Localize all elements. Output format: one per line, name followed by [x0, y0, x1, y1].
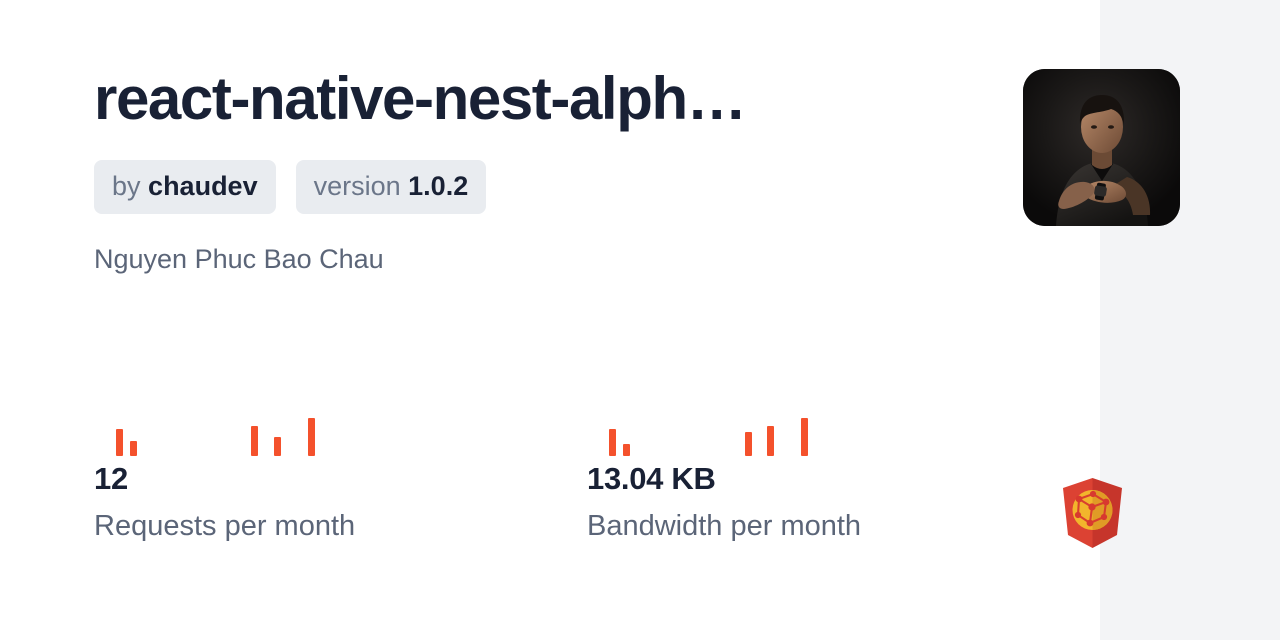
author-badge-handle: chaudev	[148, 171, 258, 201]
badge-row: by chaudev version 1.0.2	[94, 160, 994, 214]
page-title: react-native-nest-alph…	[94, 62, 994, 136]
author-badge-prefix: by	[112, 171, 141, 201]
sparkline-icon-bandwidth	[587, 396, 807, 456]
author-badge[interactable]: by chaudev	[94, 160, 276, 214]
version-badge-value: 1.0.2	[408, 171, 468, 201]
stat-block-requests: 12 Requests per month	[94, 396, 587, 545]
stat-block-bandwidth: 13.04 KB Bandwidth per month	[587, 396, 1080, 545]
stat-value-bandwidth: 13.04 KB	[587, 459, 1080, 499]
jsdelivr-logo	[1061, 477, 1124, 549]
version-badge-prefix: version	[314, 171, 401, 201]
avatar	[1023, 69, 1180, 226]
stat-label-requests: Requests per month	[94, 507, 587, 545]
side-panel	[1100, 0, 1280, 640]
sparkline-icon-requests	[94, 396, 314, 456]
stats-row: 12 Requests per month 13.04 KB Bandwidth…	[94, 396, 1080, 545]
author-full-name: Nguyen Phuc Bao Chau	[94, 242, 994, 276]
package-summary-card: react-native-nest-alph… by chaudev versi…	[0, 0, 1280, 640]
package-header: react-native-nest-alph… by chaudev versi…	[94, 62, 994, 276]
stat-value-requests: 12	[94, 459, 587, 499]
stat-label-bandwidth: Bandwidth per month	[587, 507, 1080, 545]
version-badge[interactable]: version 1.0.2	[296, 160, 487, 214]
main-panel: react-native-nest-alph… by chaudev versi…	[0, 0, 1100, 640]
